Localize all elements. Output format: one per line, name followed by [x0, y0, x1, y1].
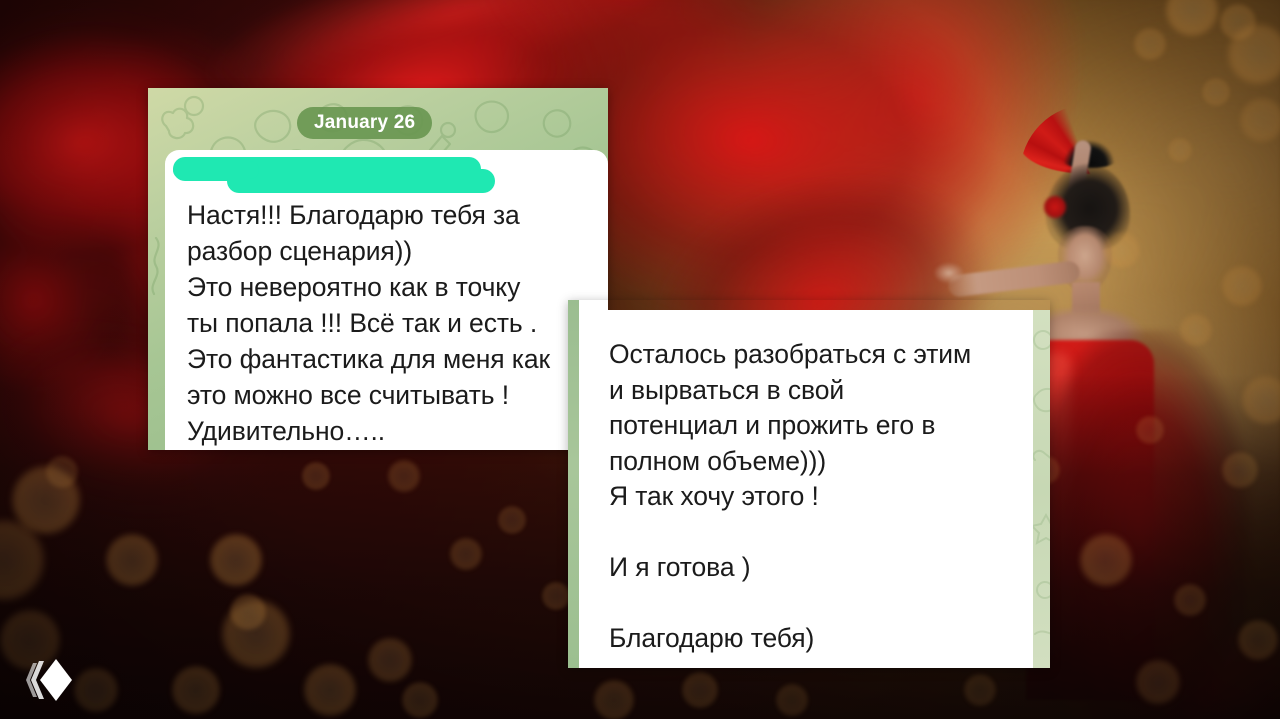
bokeh-light [1180, 314, 1212, 346]
bokeh-light [12, 466, 80, 534]
bokeh-light [302, 462, 330, 490]
bokeh-light [46, 456, 78, 488]
chat-message-bubble-2: Осталось разобраться с этим и вырваться … [579, 310, 1033, 668]
bokeh-light [1202, 78, 1230, 106]
dancer-raised-arm [1064, 139, 1092, 219]
bokeh-light [682, 672, 718, 708]
diamond-chevron-logo-icon [26, 654, 82, 706]
bokeh-light [172, 666, 220, 714]
dancer-extended-arm [947, 260, 1081, 298]
dancer-hair-flower [1044, 196, 1066, 218]
chat-message-bubble-1: Настя!!! Благодарю тебя за разбор сценар… [165, 150, 608, 450]
chat-screenshot-panel-2: Осталось разобраться с этим и вырваться … [568, 300, 1050, 668]
bokeh-light [222, 600, 290, 668]
bokeh-light [1168, 138, 1192, 162]
bokeh-light [1174, 584, 1206, 616]
bokeh-light [1136, 416, 1164, 444]
bokeh-light [594, 680, 634, 719]
bokeh-light [304, 664, 356, 716]
bokeh-light [542, 582, 570, 610]
dancer-hand [934, 262, 964, 284]
telegram-wallpaper-strip-left [568, 300, 579, 668]
bokeh-light [1080, 534, 1132, 586]
telegram-doodle-pattern-2 [1033, 310, 1050, 668]
fan-handle-icon [1060, 118, 1118, 168]
chat-screenshot-panel-1: January 26 Настя!!! Благодарю тебя за ра… [148, 88, 608, 450]
dancer-skirt-flow [1010, 330, 1280, 719]
bokeh-light [1228, 24, 1280, 84]
bokeh-light [0, 520, 44, 600]
dancer-neck [1072, 282, 1100, 314]
dancer-face [1058, 226, 1112, 292]
bokeh-light [1238, 620, 1278, 660]
bokeh-light [230, 594, 266, 630]
bokeh-light [1240, 98, 1280, 142]
bokeh-light [388, 460, 420, 492]
bokeh-light [450, 538, 482, 570]
dancer-hair [1046, 164, 1130, 250]
bokeh-light [106, 534, 158, 586]
chat-date-badge: January 26 [297, 107, 432, 139]
bokeh-light [1166, 0, 1218, 36]
bokeh-light [402, 682, 438, 718]
redaction-marker-scribble [173, 157, 481, 181]
bokeh-light [1104, 232, 1140, 268]
screenshot-canvas: January 26 Настя!!! Благодарю тебя за ра… [0, 0, 1280, 719]
bokeh-light [1222, 266, 1262, 306]
red-fan-icon [1020, 62, 1160, 174]
bokeh-light [498, 506, 526, 534]
bokeh-light [1242, 376, 1280, 424]
bokeh-light [776, 684, 808, 716]
bokeh-light [1136, 660, 1180, 704]
bokeh-light [1222, 452, 1258, 488]
message-text-1: Настя!!! Благодарю тебя за разбор сценар… [187, 197, 587, 449]
bokeh-light [964, 674, 996, 706]
bokeh-light [1220, 4, 1256, 40]
message-text-2: Осталось разобраться с этим и вырваться … [609, 337, 1029, 657]
bokeh-light [368, 638, 412, 682]
bokeh-light [1134, 28, 1166, 60]
bokeh-light [210, 534, 262, 586]
